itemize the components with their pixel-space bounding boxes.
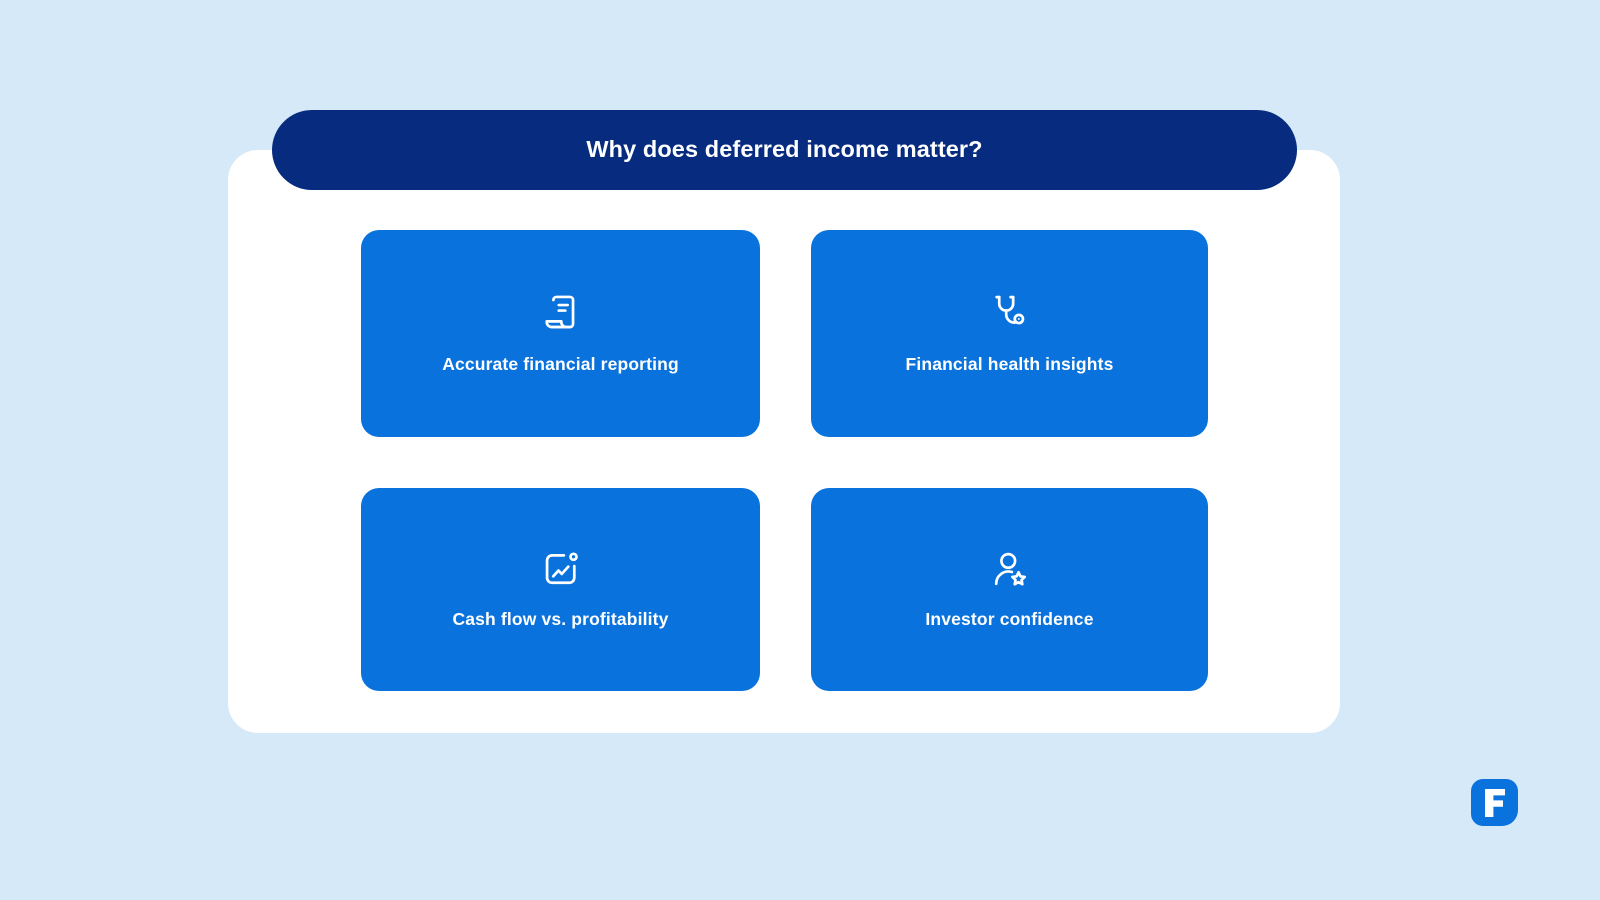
chart-trending-up-icon bbox=[541, 549, 581, 589]
stethoscope-icon bbox=[990, 292, 1030, 332]
benefit-card-cash-flow-vs-profitability[interactable]: Cash flow vs. profitability bbox=[361, 488, 760, 691]
benefit-card-label: Cash flow vs. profitability bbox=[452, 609, 668, 630]
header-banner: Why does deferred income matter? bbox=[272, 110, 1297, 190]
benefit-card-label: Investor confidence bbox=[925, 609, 1093, 630]
document-scroll-icon bbox=[541, 292, 581, 332]
user-star-icon bbox=[990, 549, 1030, 589]
letter-f-glyph bbox=[1481, 788, 1509, 818]
infographic-canvas: Why does deferred income matter? Accurat… bbox=[0, 0, 1600, 900]
brand-logo bbox=[1471, 779, 1518, 826]
benefit-card-label: Accurate financial reporting bbox=[442, 354, 679, 375]
benefit-card-accurate-financial-reporting[interactable]: Accurate financial reporting bbox=[361, 230, 760, 437]
page-title: Why does deferred income matter? bbox=[586, 138, 982, 162]
benefit-card-investor-confidence[interactable]: Investor confidence bbox=[811, 488, 1208, 691]
benefit-card-label: Financial health insights bbox=[906, 354, 1114, 375]
benefit-card-financial-health-insights[interactable]: Financial health insights bbox=[811, 230, 1208, 437]
benefit-card-grid: Accurate financial reporting Financial h… bbox=[361, 230, 1208, 691]
